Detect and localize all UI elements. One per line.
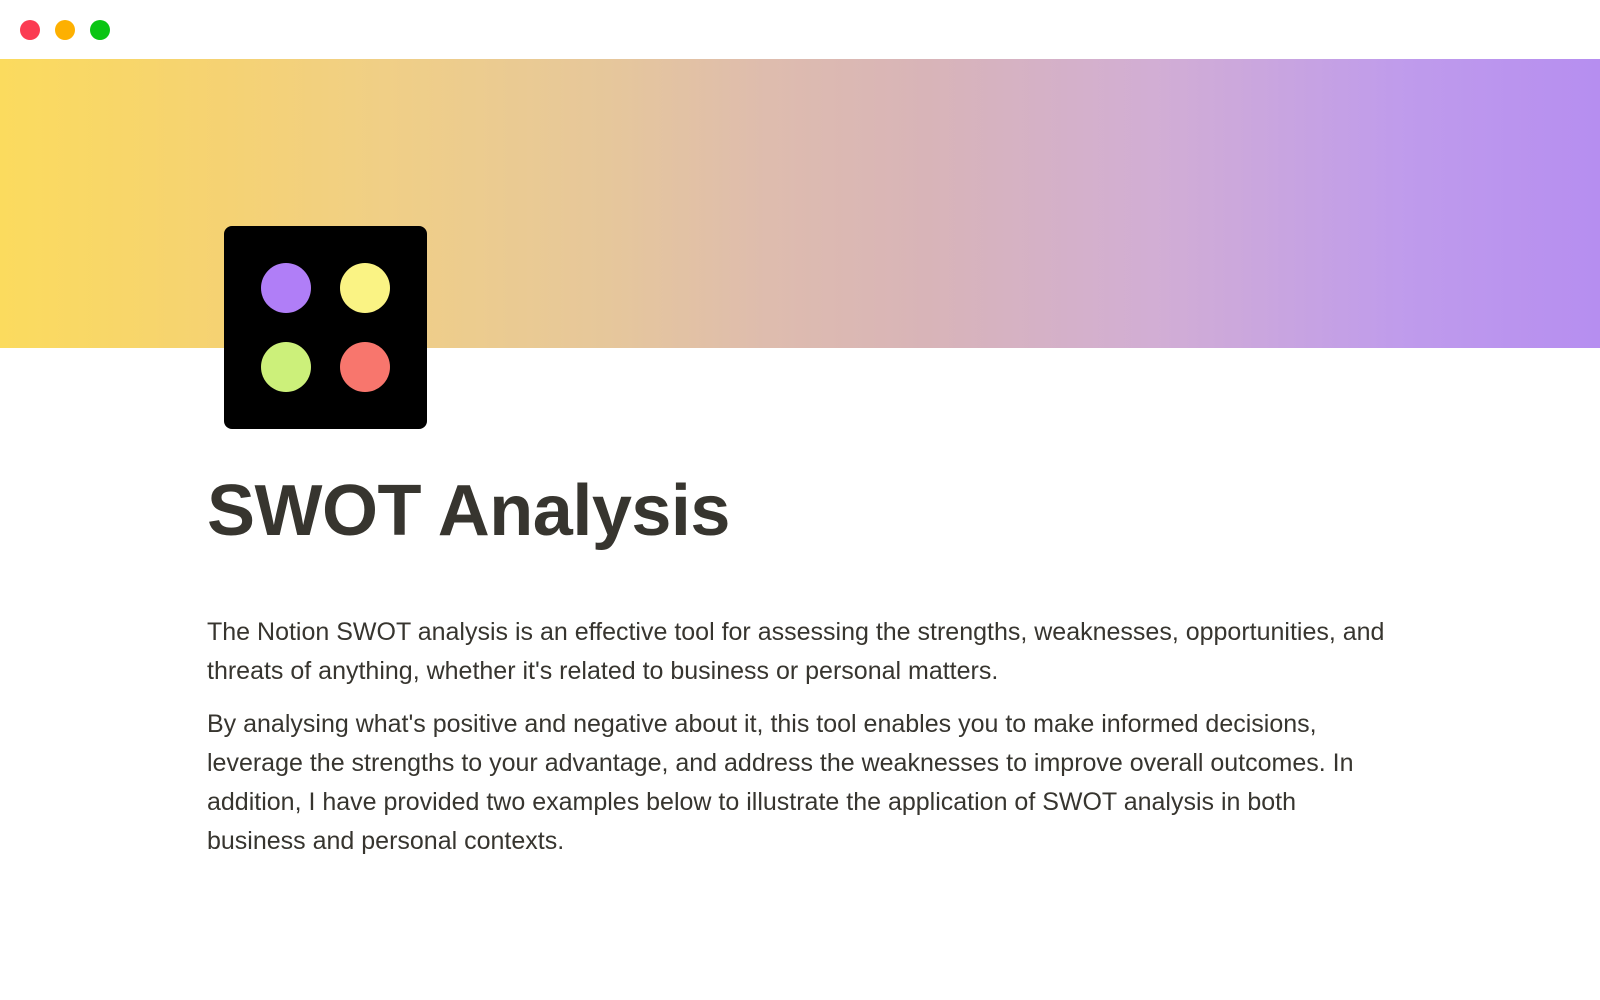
paragraph-block[interactable]: The Notion SWOT analysis is an effective… bbox=[207, 613, 1397, 691]
window-titlebar bbox=[0, 0, 1600, 59]
page-title[interactable]: SWOT Analysis bbox=[207, 470, 1397, 553]
yellow-dot-icon bbox=[340, 263, 390, 313]
paragraph-block[interactable]: By analysing what's positive and negativ… bbox=[207, 705, 1397, 861]
lime-dot-icon bbox=[261, 342, 311, 392]
purple-dot-icon bbox=[261, 263, 311, 313]
page-content: SWOT Analysis The Notion SWOT analysis i… bbox=[207, 470, 1397, 861]
app-window: SWOT Analysis The Notion SWOT analysis i… bbox=[0, 0, 1600, 1000]
page-body: The Notion SWOT analysis is an effective… bbox=[207, 613, 1397, 861]
minimize-window-button[interactable] bbox=[55, 20, 75, 40]
close-window-button[interactable] bbox=[20, 20, 40, 40]
window-controls bbox=[20, 20, 110, 40]
maximize-window-button[interactable] bbox=[90, 20, 110, 40]
page-icon[interactable] bbox=[224, 226, 427, 429]
coral-dot-icon bbox=[340, 342, 390, 392]
